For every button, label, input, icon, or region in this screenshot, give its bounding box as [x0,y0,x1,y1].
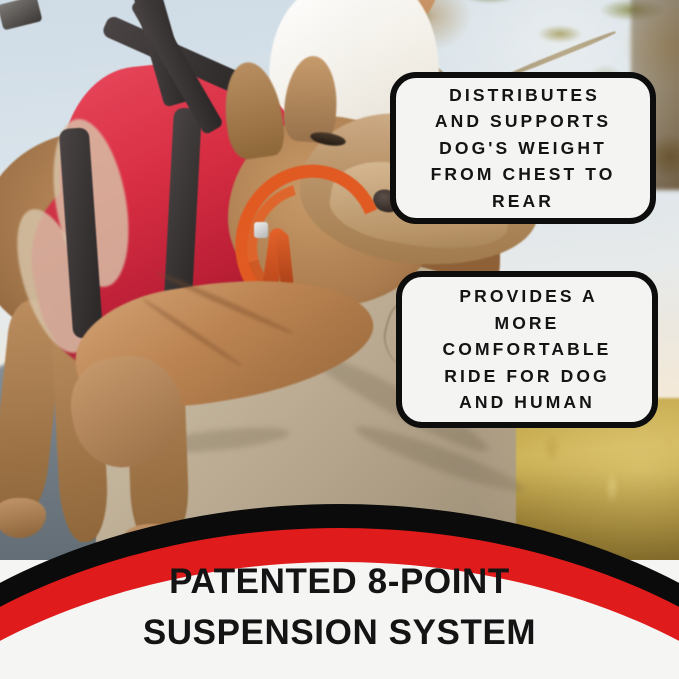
banner-headline: Patented 8-point Suspension System [0,556,679,659]
feature-callout-1: Distributes and supports dog's weight fr… [390,72,656,224]
feature-callout-2: Provides a more comfortable ride for dog… [396,271,658,428]
product-infographic: Distributes and supports dog's weight fr… [0,0,679,679]
dog-collar-tag [254,222,268,238]
feature-callout-2-text: Provides a more comfortable ride for dog… [443,283,612,416]
feature-callout-1-text: Distributes and supports dog's weight fr… [431,82,616,215]
